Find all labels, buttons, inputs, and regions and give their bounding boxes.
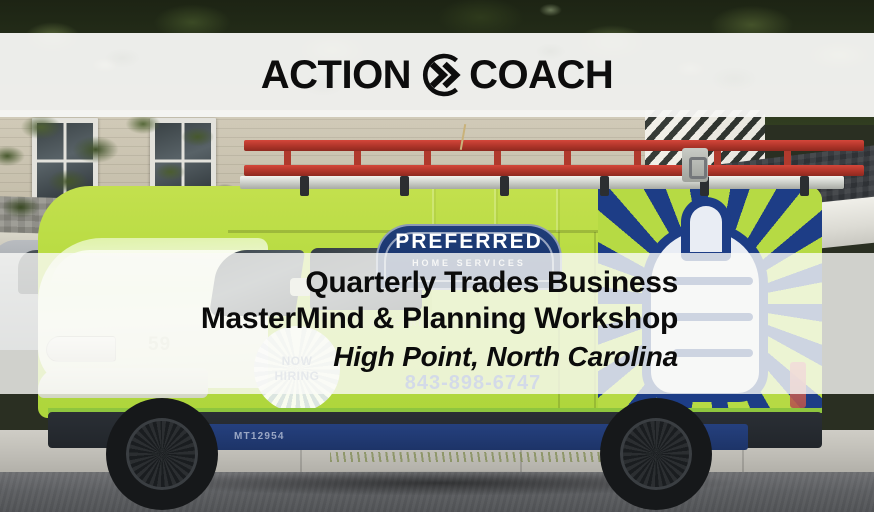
ladder-clamp	[682, 148, 708, 182]
roof-ladder	[244, 140, 864, 178]
logo-word-action: ACTION	[261, 55, 411, 95]
ladder-rung	[564, 151, 571, 165]
workshop-promo-banner: PREFERRED HOME SERVICES ELECTRICAL · PLU…	[0, 0, 874, 512]
van-unit-code: MT12954	[234, 431, 285, 442]
headline-line-2: MasterMind & Planning Workshop	[201, 301, 678, 337]
headline-line-1: Quarterly Trades Business	[305, 265, 678, 301]
ladder-rung	[424, 151, 431, 165]
ladder-rung	[354, 151, 361, 165]
wheel-hub	[152, 444, 172, 464]
ladder-top-rail	[244, 140, 864, 151]
actioncoach-chevron-circle-icon	[415, 49, 467, 101]
van-rear-wheel	[600, 398, 712, 510]
ladder-rung	[714, 151, 721, 165]
rack-foot	[800, 176, 809, 196]
rack-foot	[300, 176, 309, 196]
logo-header-band: ACTION COACH	[0, 33, 874, 117]
actioncoach-logo: ACTION COACH	[261, 49, 614, 101]
rack-foot	[500, 176, 509, 196]
wheel-hub	[646, 444, 666, 464]
ladder-rung	[784, 151, 791, 165]
rack-foot	[400, 176, 409, 196]
preferred-wordmark: PREFERRED	[374, 230, 564, 254]
ladder-rung	[634, 151, 641, 165]
headline-block: Quarterly Trades Business MasterMind & P…	[0, 253, 874, 394]
rack-foot	[600, 176, 609, 196]
ladder-rung	[284, 151, 291, 165]
van-front-wheel	[106, 398, 218, 510]
logo-word-coach: COACH	[469, 55, 613, 95]
raised-thumb-shape	[681, 197, 731, 261]
ladder-bottom-rail	[244, 165, 864, 176]
headline-location: High Point, North Carolina	[333, 339, 678, 375]
ladder-rung	[494, 151, 501, 165]
